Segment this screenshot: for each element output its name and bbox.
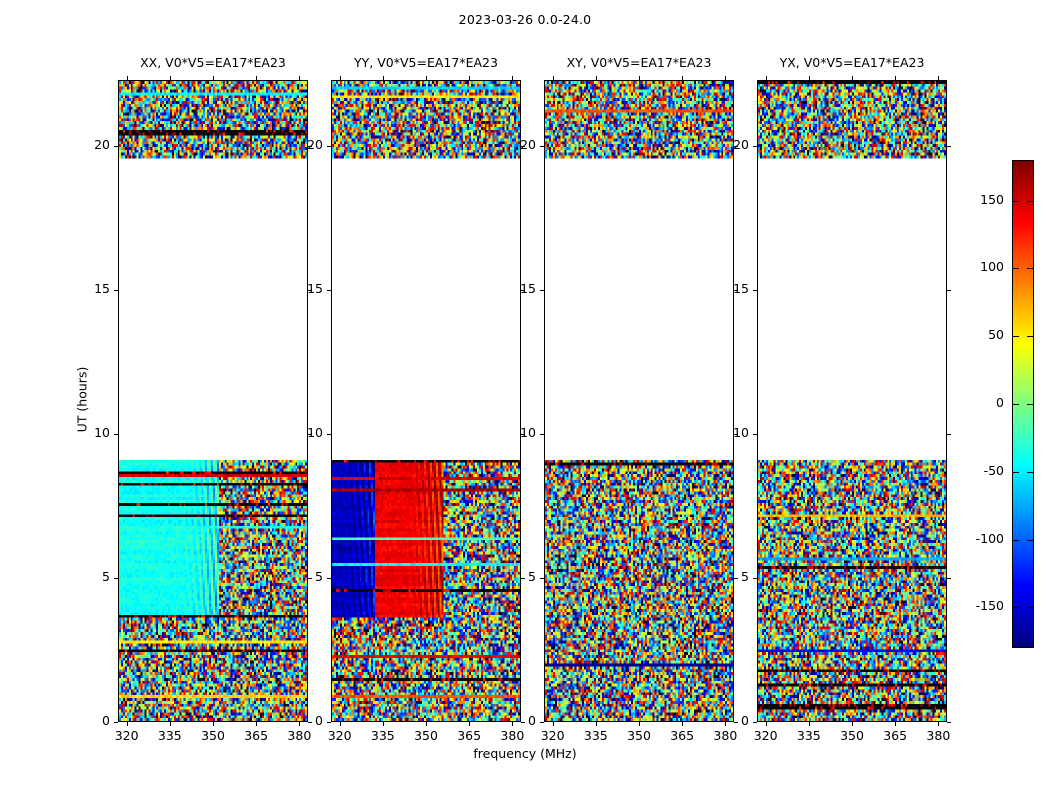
y-tick-label: 5 bbox=[72, 569, 110, 584]
y-tick-label: 0 bbox=[711, 713, 749, 728]
x-tick-label: 380 bbox=[277, 728, 321, 743]
x-tickmark-top bbox=[512, 76, 513, 80]
y-tickmark bbox=[540, 434, 544, 435]
heatmap-canvas-xy bbox=[545, 81, 733, 721]
y-tickmark bbox=[114, 722, 118, 723]
plot-panel-yy[interactable] bbox=[331, 80, 521, 722]
y-tickmark bbox=[540, 578, 544, 579]
colorbar-tickmark-right bbox=[1027, 201, 1033, 202]
y-tickmark bbox=[540, 722, 544, 723]
y-tick-label: 0 bbox=[72, 713, 110, 728]
x-tick-label: 335 bbox=[787, 728, 831, 743]
x-tick-label: 350 bbox=[617, 728, 661, 743]
plot-panel-xy[interactable] bbox=[544, 80, 734, 722]
heatmap-canvas-yx bbox=[758, 81, 946, 721]
y-tick-label: 15 bbox=[711, 281, 749, 296]
phase-vs-frequency-figure: 2023-03-26 0.0-24.0 XX, V0*V5=EA17*EA23 … bbox=[0, 0, 1050, 800]
x-tickmark bbox=[895, 722, 896, 726]
colorbar-tick-label: -100 bbox=[956, 531, 1004, 546]
x-tickmark-top bbox=[469, 76, 470, 80]
x-tickmark bbox=[639, 722, 640, 726]
y-tickmark bbox=[114, 146, 118, 147]
y-tickmark bbox=[327, 578, 331, 579]
y-tickmark bbox=[540, 290, 544, 291]
panel-title-yy: YY, V0*V5=EA17*EA23 bbox=[331, 55, 521, 70]
x-tickmark-top bbox=[299, 76, 300, 80]
y-tickmark bbox=[540, 146, 544, 147]
x-tick-label: 335 bbox=[148, 728, 192, 743]
y-tickmark bbox=[753, 722, 757, 723]
plot-panel-xx[interactable] bbox=[118, 80, 308, 722]
heatmap-xx bbox=[119, 81, 307, 721]
colorbar-tickmark bbox=[1013, 201, 1019, 202]
colorbar-tick-label: 100 bbox=[956, 259, 1004, 274]
heatmap-yy bbox=[332, 81, 520, 721]
y-tick-label: 5 bbox=[498, 569, 536, 584]
heatmap-canvas-xx bbox=[119, 81, 307, 721]
x-tickmark-top bbox=[383, 76, 384, 80]
x-tickmark-top bbox=[256, 76, 257, 80]
colorbar-tickmark bbox=[1013, 336, 1019, 337]
x-tick-label: 350 bbox=[404, 728, 448, 743]
x-tickmark bbox=[127, 722, 128, 726]
x-tickmark bbox=[383, 722, 384, 726]
x-tick-label: 335 bbox=[574, 728, 618, 743]
x-tickmark-top bbox=[127, 76, 128, 80]
y-tickmark-right bbox=[947, 722, 951, 723]
y-tick-label: 15 bbox=[72, 281, 110, 296]
plot-panel-yx[interactable] bbox=[757, 80, 947, 722]
x-tickmark bbox=[596, 722, 597, 726]
heatmap-yx bbox=[758, 81, 946, 721]
y-tick-label: 0 bbox=[498, 713, 536, 728]
y-tickmark bbox=[114, 434, 118, 435]
y-tick-label: 20 bbox=[711, 137, 749, 152]
x-tickmark-top bbox=[553, 76, 554, 80]
panel-title-xy: XY, V0*V5=EA17*EA23 bbox=[544, 55, 734, 70]
x-tick-label: 365 bbox=[447, 728, 491, 743]
colorbar-tick-label: 0 bbox=[956, 395, 1004, 410]
x-tickmark-top bbox=[895, 76, 896, 80]
y-tick-label: 20 bbox=[72, 137, 110, 152]
colorbar-tickmark bbox=[1013, 404, 1019, 405]
heatmap-xy bbox=[545, 81, 733, 721]
x-tick-label: 380 bbox=[703, 728, 747, 743]
y-tickmark bbox=[114, 290, 118, 291]
x-tick-label: 365 bbox=[660, 728, 704, 743]
x-tickmark bbox=[553, 722, 554, 726]
x-tickmark bbox=[256, 722, 257, 726]
y-tick-label: 5 bbox=[711, 569, 749, 584]
y-tickmark bbox=[327, 290, 331, 291]
x-tickmark-top bbox=[596, 76, 597, 80]
y-tickmark bbox=[753, 434, 757, 435]
x-tick-label: 350 bbox=[191, 728, 235, 743]
colorbar-tickmark-right bbox=[1027, 404, 1033, 405]
x-tickmark bbox=[682, 722, 683, 726]
x-tick-label: 320 bbox=[318, 728, 362, 743]
x-tickmark bbox=[213, 722, 214, 726]
y-axis-label: UT (hours) bbox=[75, 340, 90, 460]
figure-suptitle: 2023-03-26 0.0-24.0 bbox=[0, 12, 1050, 27]
x-tick-label: 350 bbox=[830, 728, 874, 743]
y-tick-label: 10 bbox=[711, 425, 749, 440]
y-tick-label: 5 bbox=[285, 569, 323, 584]
heatmap-canvas-yy bbox=[332, 81, 520, 721]
x-tickmark-top bbox=[852, 76, 853, 80]
y-tick-label: 20 bbox=[285, 137, 323, 152]
colorbar-tickmark-right bbox=[1027, 607, 1033, 608]
x-tick-label: 380 bbox=[490, 728, 534, 743]
y-tick-label: 10 bbox=[285, 425, 323, 440]
y-tickmark-right bbox=[947, 434, 951, 435]
x-tickmark bbox=[340, 722, 341, 726]
x-tickmark-top bbox=[766, 76, 767, 80]
colorbar-tickmark-right bbox=[1027, 540, 1033, 541]
x-tickmark-top bbox=[682, 76, 683, 80]
y-tickmark-right bbox=[947, 290, 951, 291]
panel-title-yx: YX, V0*V5=EA17*EA23 bbox=[757, 55, 947, 70]
x-tickmark bbox=[852, 722, 853, 726]
y-tickmark bbox=[327, 722, 331, 723]
colorbar-tickmark bbox=[1013, 540, 1019, 541]
colorbar-tickmark-right bbox=[1027, 336, 1033, 337]
y-tick-label: 15 bbox=[498, 281, 536, 296]
y-tickmark bbox=[114, 578, 118, 579]
y-tickmark bbox=[753, 578, 757, 579]
x-tickmark-top bbox=[170, 76, 171, 80]
y-tick-label: 15 bbox=[285, 281, 323, 296]
x-tickmark bbox=[469, 722, 470, 726]
colorbar-tickmark bbox=[1013, 472, 1019, 473]
x-tickmark-top bbox=[938, 76, 939, 80]
y-tick-label: 0 bbox=[285, 713, 323, 728]
x-tickmark-top bbox=[340, 76, 341, 80]
y-tickmark bbox=[327, 434, 331, 435]
x-tickmark-top bbox=[639, 76, 640, 80]
x-tickmark bbox=[170, 722, 171, 726]
x-tickmark bbox=[426, 722, 427, 726]
y-tickmark-right bbox=[947, 146, 951, 147]
x-tickmark-top bbox=[426, 76, 427, 80]
colorbar-tickmark-right bbox=[1027, 472, 1033, 473]
x-tick-label: 380 bbox=[916, 728, 960, 743]
x-tick-label: 335 bbox=[361, 728, 405, 743]
x-tickmark bbox=[938, 722, 939, 726]
x-axis-label: frequency (MHz) bbox=[0, 746, 1050, 761]
x-tickmark-top bbox=[725, 76, 726, 80]
x-tickmark-top bbox=[213, 76, 214, 80]
y-tick-label: 20 bbox=[498, 137, 536, 152]
colorbar-tick-label: -50 bbox=[956, 463, 1004, 478]
colorbar-tick-label: 150 bbox=[956, 192, 1004, 207]
colorbar-tickmark-right bbox=[1027, 268, 1033, 269]
colorbar-tick-label: -150 bbox=[956, 598, 1004, 613]
x-tickmark bbox=[809, 722, 810, 726]
colorbar-tickmark bbox=[1013, 607, 1019, 608]
y-tick-label: 10 bbox=[498, 425, 536, 440]
colorbar-tick-label: 50 bbox=[956, 327, 1004, 342]
x-tick-label: 320 bbox=[744, 728, 788, 743]
x-tick-label: 365 bbox=[234, 728, 278, 743]
x-tick-label: 320 bbox=[531, 728, 575, 743]
x-tick-label: 365 bbox=[873, 728, 917, 743]
y-tick-label: 10 bbox=[72, 425, 110, 440]
y-tickmark bbox=[753, 290, 757, 291]
panel-title-xx: XX, V0*V5=EA17*EA23 bbox=[118, 55, 308, 70]
x-tickmark bbox=[766, 722, 767, 726]
colorbar-tickmark bbox=[1013, 268, 1019, 269]
y-tickmark bbox=[327, 146, 331, 147]
y-tickmark-right bbox=[947, 578, 951, 579]
y-tickmark bbox=[753, 146, 757, 147]
x-tickmark-top bbox=[809, 76, 810, 80]
x-tick-label: 320 bbox=[105, 728, 149, 743]
